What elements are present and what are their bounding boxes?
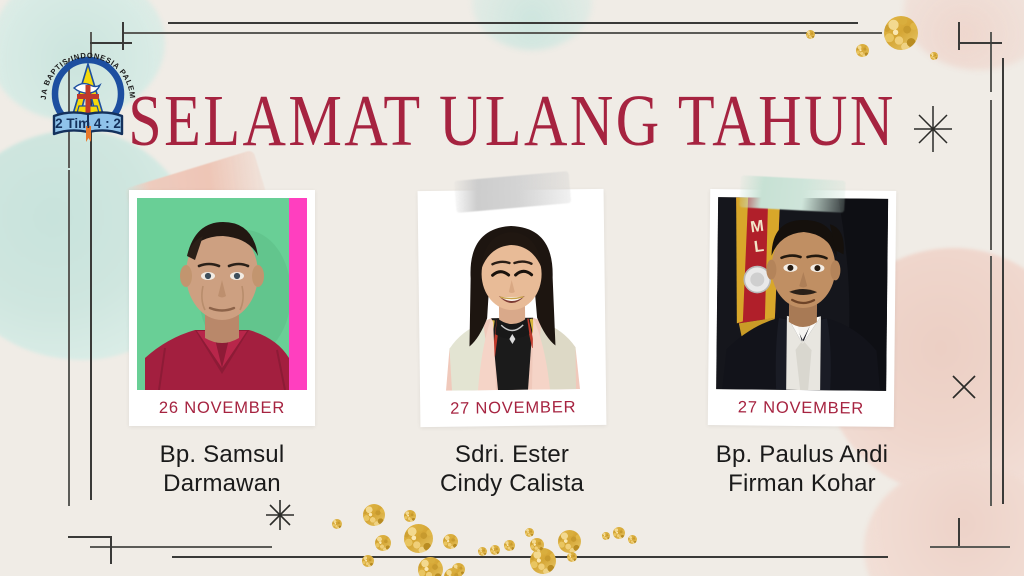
person-name: Bp. Paulus Andi Firman Kohar: [716, 440, 888, 498]
portrait-photo: [426, 197, 598, 391]
birthday-date: 26 NOVEMBER: [137, 390, 307, 426]
photo-frame: 27 NOVEMBER: [418, 189, 607, 427]
watercolor-blob-mint-center: [472, 0, 592, 50]
4-point-star-icon-bottom-left: [262, 497, 298, 533]
portrait-photo: M L: [716, 197, 888, 391]
glitter-dot: [443, 534, 458, 549]
frame-corner-br-v1: [958, 518, 960, 546]
glitter-dot: [404, 524, 433, 553]
frame-line-top-inner: [122, 32, 882, 34]
svg-text:M: M: [750, 218, 765, 237]
frame-corner-br-h1: [930, 546, 1010, 548]
birthday-card-list: 26 NOVEMBER Bp. Samsul Darmawan: [0, 190, 1024, 498]
glitter-dot: [504, 540, 515, 551]
glitter-dot: [628, 535, 637, 544]
page-title: SELAMAT ULANG TAHUN: [15, 80, 1008, 164]
glitter-dot: [490, 545, 500, 555]
frame-corner-bl-h1: [68, 536, 110, 538]
glitter-dot: [478, 547, 487, 556]
glitter-dot: [362, 555, 374, 567]
glitter-dot: [332, 519, 342, 529]
glitter-dot: [418, 557, 443, 576]
glitter-dot: [806, 30, 815, 39]
photo-frame: M L: [708, 189, 896, 427]
frame-line-bottom-inner: [90, 546, 272, 548]
glitter-dot: [567, 552, 577, 562]
birthday-poster: 2 Tim 4 : 2 GEREJA BAPTIS INDONESIA PALE…: [0, 0, 1024, 576]
birthday-date: 27 NOVEMBER: [428, 389, 598, 427]
glitter-dot: [884, 16, 918, 50]
birthday-card: M L: [702, 190, 902, 498]
glitter-dot: [404, 510, 416, 522]
birthday-card: 26 NOVEMBER Bp. Samsul Darmawan: [122, 190, 322, 498]
person-name: Bp. Samsul Darmawan: [160, 440, 285, 498]
glitter-dot: [525, 528, 534, 537]
watercolor-blob-pink-top-right: [904, 0, 1024, 70]
photo-frame: 26 NOVEMBER: [129, 190, 315, 426]
glitter-dot: [530, 538, 544, 552]
birthday-date: 27 NOVEMBER: [716, 389, 886, 427]
portrait-photo: [137, 198, 307, 390]
glitter-dot: [930, 52, 938, 60]
frame-line-top-outer: [168, 22, 858, 24]
person-name: Sdri. Ester Cindy Calista: [440, 440, 584, 498]
birthday-card: 27 NOVEMBER Sdri. Ester Cindy Calista: [412, 190, 612, 498]
glitter-dot: [530, 548, 556, 574]
frame-corner-bl-v1: [110, 536, 112, 564]
frame-corner-tr-h1: [958, 42, 1002, 44]
glitter-dot: [375, 535, 391, 551]
glitter-dot: [558, 530, 581, 553]
glitter-dot: [602, 532, 610, 540]
frame-corner-tr-v1: [958, 22, 960, 50]
glitter-dot: [856, 44, 869, 57]
glitter-dot: [363, 504, 385, 526]
glitter-dot: [613, 527, 625, 539]
